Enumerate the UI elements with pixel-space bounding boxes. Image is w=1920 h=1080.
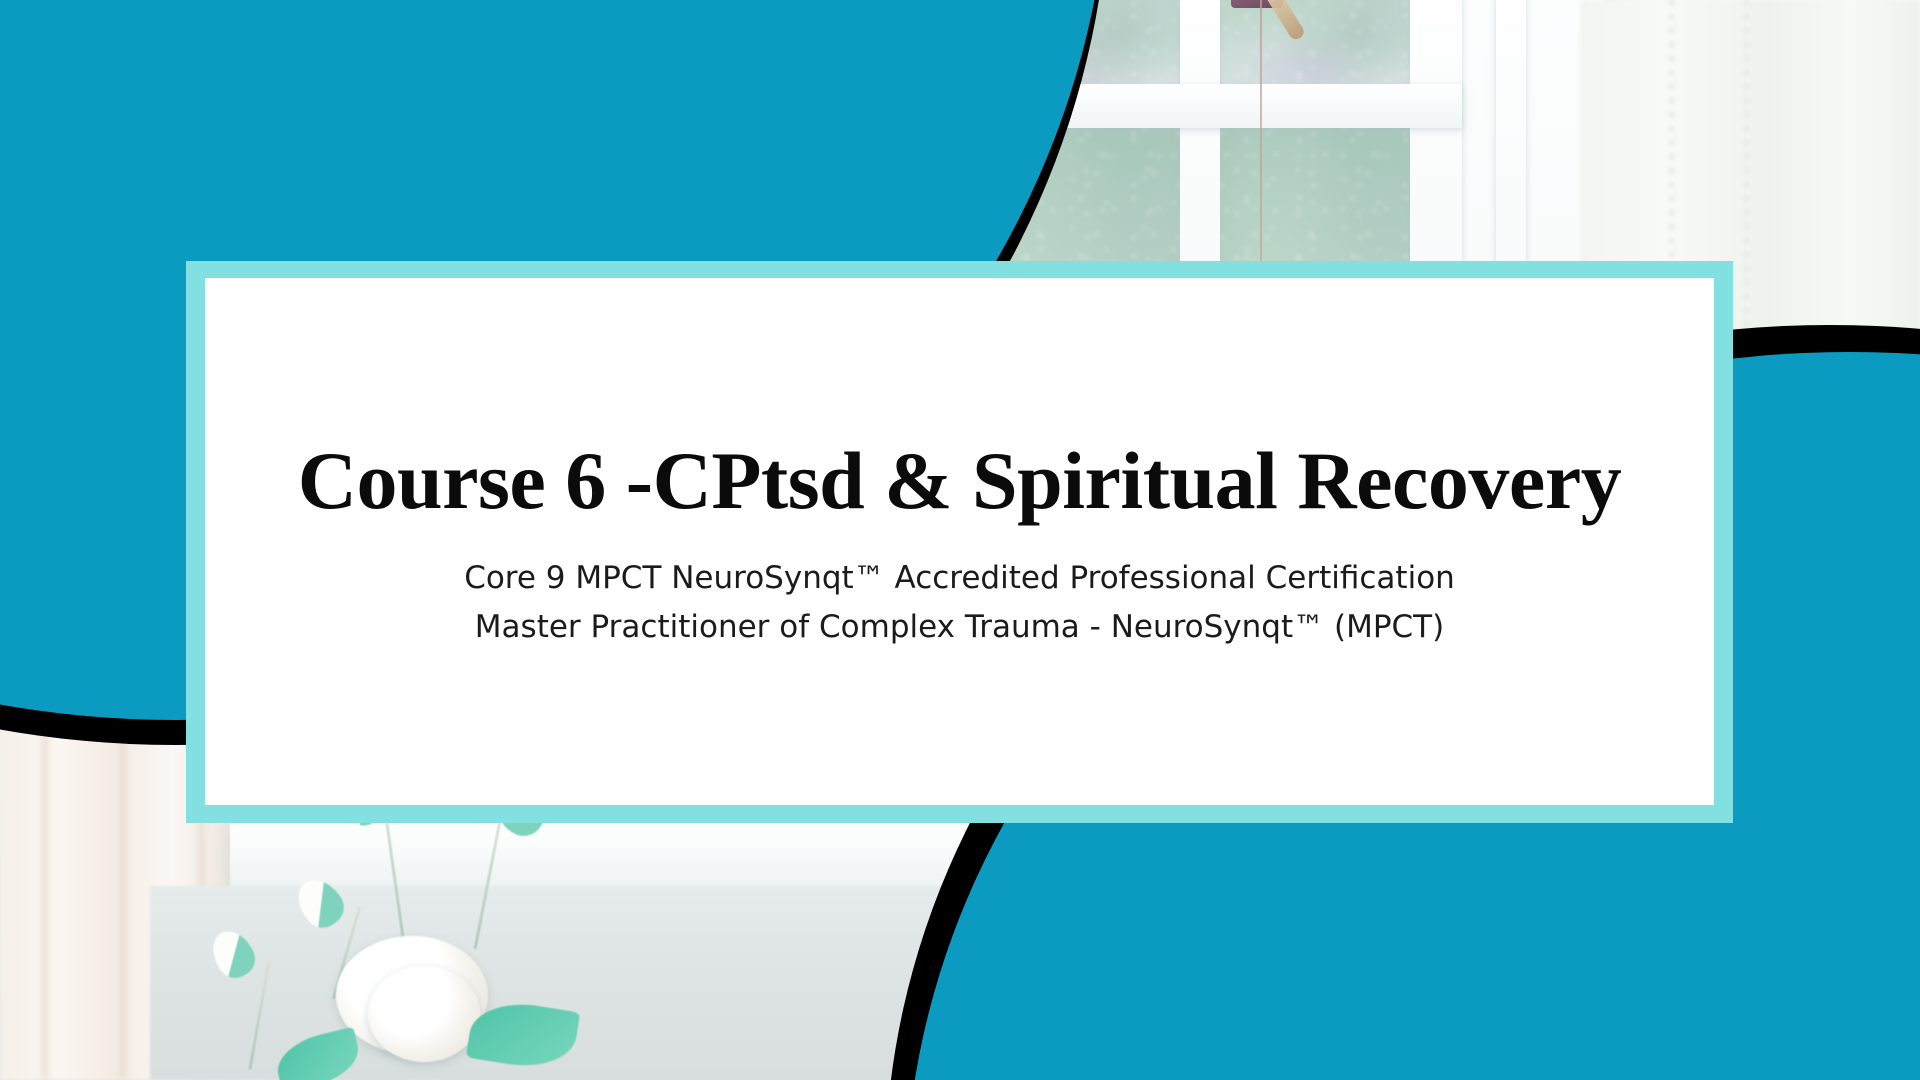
title-card: Course 6 -CPtsd & Spiritual Recovery Cor…	[205, 278, 1714, 805]
subtitle-line-2: Master Practitioner of Complex Trauma - …	[475, 603, 1444, 652]
page-title: Course 6 -CPtsd & Spiritual Recovery	[298, 278, 1621, 522]
subtitle-line-1: Core 9 MPCT NeuroSynqt™ Accredited Profe…	[464, 522, 1455, 603]
presentation-slide: Course 6 -CPtsd & Spiritual Recovery Cor…	[0, 0, 1920, 1080]
title-card-border: Course 6 -CPtsd & Spiritual Recovery Cor…	[186, 261, 1733, 823]
